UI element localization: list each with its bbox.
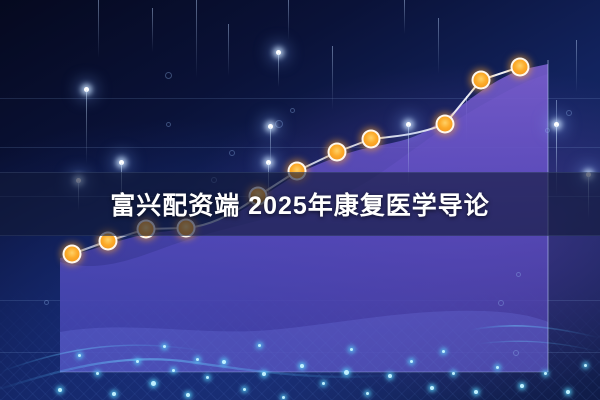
poster-canvas: 富兴配资端 2025年康复医学导论 [0, 0, 600, 400]
bottom-grid-mesh [0, 280, 600, 400]
page-title: 富兴配资端 2025年康复医学导论 [0, 172, 600, 236]
